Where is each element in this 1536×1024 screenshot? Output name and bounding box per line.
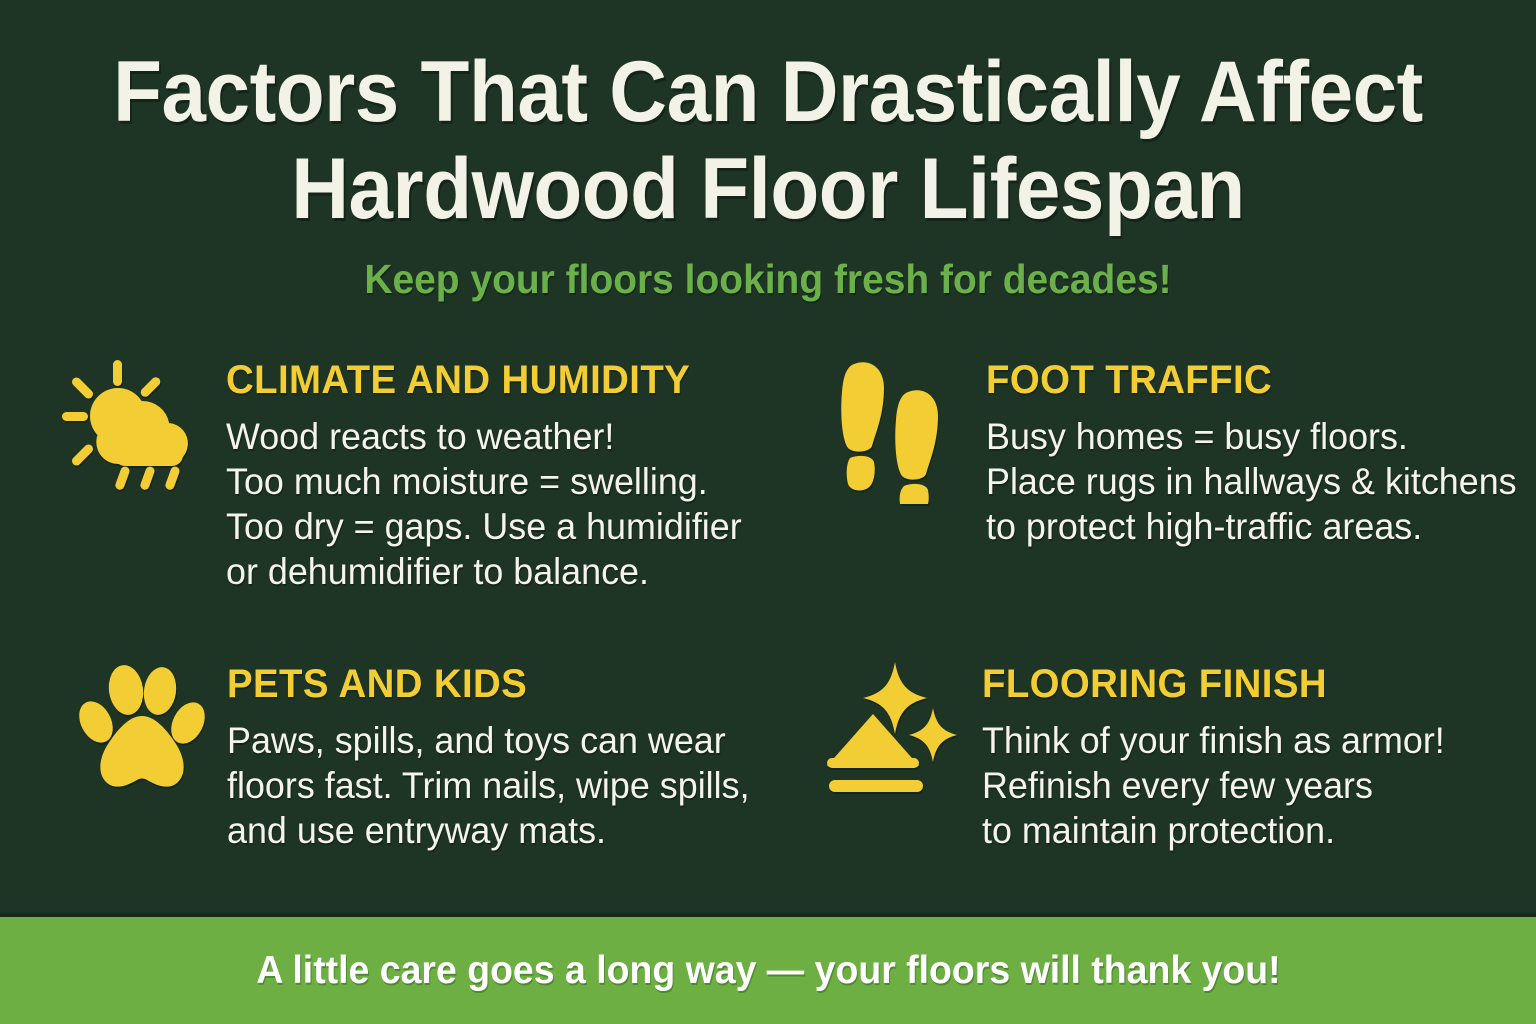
factor-card-title: FLOORING FINISH — [982, 662, 1514, 706]
factor-card-climate: CLIMATE AND HUMIDITY Wood reacts to weat… — [0, 356, 770, 646]
page-subtitle: Keep your floors looking fresh for decad… — [38, 254, 1497, 304]
page-title-line-1: Factors That Can Drastically Affect — [108, 44, 1429, 141]
factor-card-body: PETS AND KIDS Paws, spills, and toys can… — [227, 660, 770, 853]
page-title: Factors That Can Drastically Affect Hard… — [108, 44, 1429, 238]
factor-card-text: Busy homes = busy floors. Place rugs in … — [986, 414, 1520, 549]
factor-card-text: Wood reacts to weather! Too much moistur… — [226, 414, 754, 594]
factor-card-body: FLOORING FINISH Think of your finish as … — [982, 660, 1536, 853]
sun-cloud-rain-icon — [62, 356, 202, 498]
factor-card-title: FOOT TRAFFIC — [986, 358, 1514, 402]
page-title-line-2: Hardwood Floor Lifespan — [108, 141, 1429, 238]
factor-card-body: FOOT TRAFFIC Busy homes = busy floors. P… — [986, 356, 1536, 549]
factor-card-title: CLIMATE AND HUMIDITY — [226, 358, 748, 402]
factor-card-flooring-finish: FLOORING FINISH Think of your finish as … — [770, 646, 1536, 896]
factor-card-foot-traffic: FOOT TRAFFIC Busy homes = busy floors. P… — [770, 356, 1536, 646]
factor-card-text: Think of your finish as armor! Refinish … — [982, 718, 1519, 853]
footprints-icon — [830, 356, 954, 498]
footer-message: A little care goes a long way — your flo… — [256, 949, 1280, 993]
factor-card-text: Paws, spills, and toys can wear floors f… — [227, 718, 754, 853]
footer-banner: A little care goes a long way — your flo… — [0, 913, 1536, 1024]
factors-grid: CLIMATE AND HUMIDITY Wood reacts to weat… — [0, 356, 1536, 896]
shine-polish-icon — [818, 660, 968, 802]
factor-card-title: PETS AND KIDS — [227, 662, 748, 706]
header-block: Factors That Can Drastically Affect Hard… — [0, 0, 1536, 304]
paw-print-icon — [72, 660, 212, 802]
factor-card-body: CLIMATE AND HUMIDITY Wood reacts to weat… — [226, 356, 770, 594]
factor-card-pets-kids: PETS AND KIDS Paws, spills, and toys can… — [0, 646, 770, 896]
infographic-poster: Factors That Can Drastically Affect Hard… — [0, 0, 1536, 1024]
